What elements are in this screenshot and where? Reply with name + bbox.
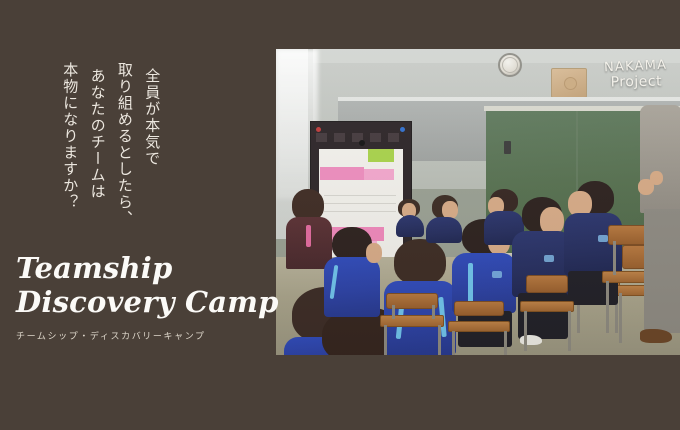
board-led-red-icon xyxy=(316,127,321,132)
grey-panel-lip xyxy=(338,97,680,101)
page-title-line-1: Teamship xyxy=(16,252,266,284)
vertical-copy-column-1: 全員が本気で xyxy=(138,68,165,167)
vertical-copy-column-2: 取り組めるとしたら、 xyxy=(111,62,138,227)
board-led-blue-icon xyxy=(400,127,405,132)
student-bowing xyxy=(324,227,380,319)
sticky-note-pink-1b xyxy=(364,169,394,180)
chair xyxy=(448,301,510,355)
sticky-note-green xyxy=(368,149,394,162)
page-title-line-2: Discovery Camp xyxy=(16,286,266,318)
vertical-copy-column-3: あなたのチームは xyxy=(83,68,110,200)
board-camera-icon xyxy=(359,140,365,146)
logo-line-2: Project xyxy=(596,74,676,90)
wall-clock-ring xyxy=(502,57,518,73)
vertical-japanese-copy: 全員が本気で 取り組めるとしたら、 あなたのチームは 本物になりますか？ xyxy=(56,62,165,242)
nakama-project-logo: NAKAMA Project xyxy=(595,58,676,91)
logo-line-1: NAKAMA xyxy=(595,58,676,75)
facilitator-standing xyxy=(636,105,680,355)
page-subtitle: チームシップ・ディスカバリーキャンプ xyxy=(16,329,266,342)
student-behind-a xyxy=(426,195,462,241)
poster-canvas: NAKAMA Project 全員が本気で 取り組めるとしたら、 あなたのチーム… xyxy=(0,0,680,430)
vertical-copy-column-4: 本物になりますか？ xyxy=(56,62,83,211)
wall-speaker-grille xyxy=(564,77,577,90)
chair xyxy=(520,275,574,351)
chalkboard-magnet xyxy=(504,141,511,154)
student-back-row-a xyxy=(396,199,424,235)
chair xyxy=(380,293,444,355)
classroom-photo xyxy=(276,49,680,355)
title-block: Teamship Discovery Camp チームシップ・ディスカバリーキャ… xyxy=(16,252,266,342)
sticky-note-pink-1 xyxy=(320,167,364,180)
